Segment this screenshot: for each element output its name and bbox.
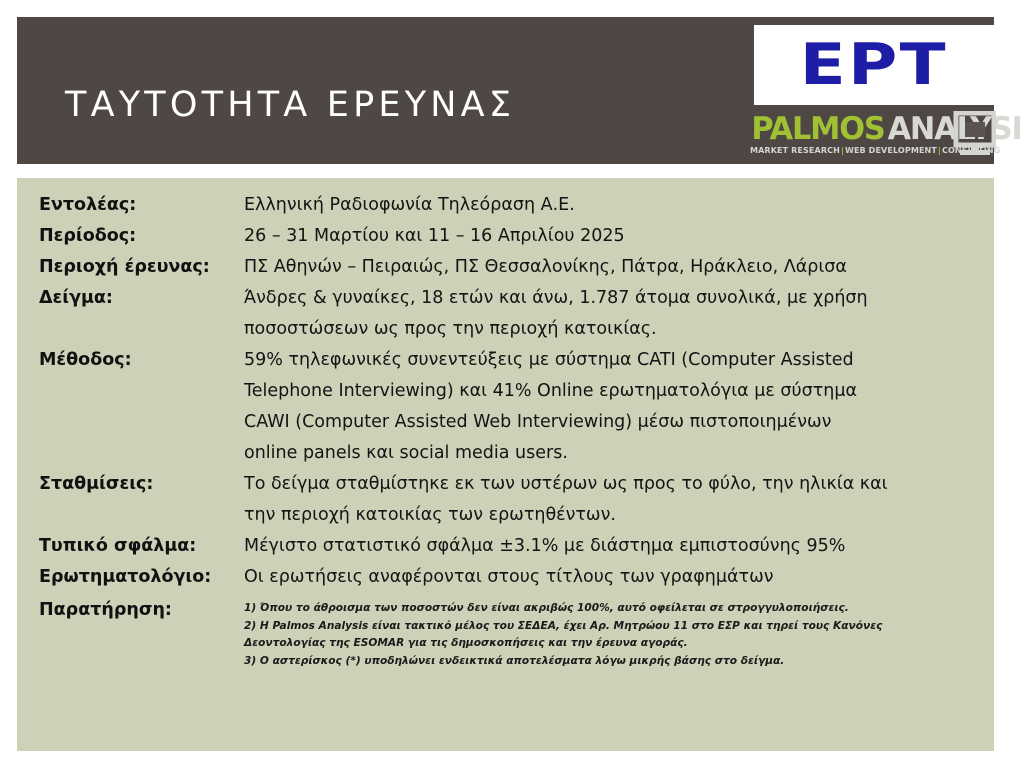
detail-row-label: Περιοχή έρευνας: [39,252,244,283]
ert-logo: ΕΡΤ [754,25,994,105]
detail-row: Ερωτηματολόγιο:Οι ερωτήσεις αναφέρονται … [39,562,974,593]
detail-row-value-line: ΠΣ Αθηνών – Πειραιώς, ΠΣ Θεσσαλονίκης, Π… [244,252,974,283]
detail-row-value: 26 – 31 Μαρτίου και 11 – 16 Απριλίου 202… [244,221,974,252]
detail-row-value-line: Μέγιστο στατιστικό σφάλμα ±3.1% με διάστ… [244,531,974,562]
palmos-logo-tagline: MARKET RESEARCH|WEB DEVELOPMENT|CONSULTI… [750,145,949,155]
detail-row-value-line: CAWI (Computer Assisted Web Interviewing… [244,407,974,438]
tagline-part-1: MARKET RESEARCH [750,145,840,155]
palmos-logo-word1: PALMOS [751,114,884,145]
observation-note-item: 1) Όπου το άθροισμα των ποσοστών δεν είν… [244,600,974,618]
detail-row-value-line: την περιοχή κατοικίας των ερωτηθέντων. [244,500,974,531]
detail-row-value: Το δείγμα σταθμίστηκε εκ των υστέρων ως … [244,469,974,531]
observation-note-item: 3) Ο αστερίσκος (*) υποδηλώνει ενδεικτικ… [244,653,974,671]
detail-row-value-line: Οι ερωτήσεις αναφέρονται στους τίτλους τ… [244,562,974,593]
observation-label: Παρατήρηση: [39,597,244,623]
detail-row-value: Άνδρες & γυναίκες, 18 ετών και άνω, 1.78… [244,283,974,345]
detail-row-value: 59% τηλεφωνικές συνεντεύξεις με σύστημα … [244,345,974,469]
detail-row-value-line: 59% τηλεφωνικές συνεντεύξεις με σύστημα … [244,345,974,376]
tagline-part-3: CONSULTING [942,145,1000,155]
observation-note-item: 2) Η Palmos Analysis είναι τακτικό μέλος… [244,618,944,653]
detail-row-value-line: ποσοστώσεων ως προς την περιοχή κατοικία… [244,314,974,345]
logo-group: ΕΡΤ PALMOSANALYSIS MARKET RESEARCH|WEB D… [754,25,994,165]
detail-row-value-line: online panels και social media users. [244,438,974,469]
detail-row: Τυπικό σφάλμα:Μέγιστο στατιστικό σφάλμα … [39,531,974,562]
detail-row: Μέθοδος:59% τηλεφωνικές συνεντεύξεις με … [39,345,974,469]
detail-row-value-line: Άνδρες & γυναίκες, 18 ετών και άνω, 1.78… [244,283,974,314]
detail-row-value-line: Το δείγμα σταθμίστηκε εκ των υστέρων ως … [244,469,974,500]
detail-row-value: Οι ερωτήσεις αναφέρονται στους τίτλους τ… [244,562,974,593]
detail-row-label: Δείγμα: [39,283,244,314]
detail-row: Σταθμίσεις:Το δείγμα σταθμίστηκε εκ των … [39,469,974,531]
detail-row-label: Ερωτηματολόγιο: [39,562,244,593]
detail-row: Περιοχή έρευνας:ΠΣ Αθηνών – Πειραιώς, ΠΣ… [39,252,974,283]
detail-row-value: ΠΣ Αθηνών – Πειραιώς, ΠΣ Θεσσαλονίκης, Π… [244,252,974,283]
detail-row-value: Μέγιστο στατιστικό σφάλμα ±3.1% με διάστ… [244,531,974,562]
detail-row-label: Μέθοδος: [39,345,244,376]
page-title: ΤΑΥΤΟΤΗΤΑ ΕΡΕΥΝΑΣ [65,85,515,125]
observation-notes: 1) Όπου το άθροισμα των ποσοστών δεν είν… [244,597,974,670]
detail-row-label: Περίοδος: [39,221,244,252]
slide-header-band: ΤΑΥΤΟΤΗΤΑ ΕΡΕΥΝΑΣ ΕΡΤ PALMOSANALYSIS MAR… [17,17,994,164]
survey-details-list: Εντολέας:Ελληνική Ραδιοφωνία Τηλεόραση Α… [39,190,974,670]
detail-row: Δείγμα:Άνδρες & γυναίκες, 18 ετών και άν… [39,283,974,345]
tagline-part-2: WEB DEVELOPMENT [845,145,937,155]
detail-row-value: Ελληνική Ραδιοφωνία Τηλεόραση Α.Ε. [244,190,974,221]
observation-row: Παρατήρηση:1) Όπου το άθροισμα των ποσοσ… [39,597,974,670]
ert-logo-text: ΕΡΤ [800,37,948,94]
detail-row-label: Σταθμίσεις: [39,469,244,500]
detail-row: Εντολέας:Ελληνική Ραδιοφωνία Τηλεόραση Α… [39,190,974,221]
survey-details-panel: Εντολέας:Ελληνική Ραδιοφωνία Τηλεόραση Α… [17,178,994,751]
detail-row-label: Τυπικό σφάλμα: [39,531,244,562]
detail-row-value-line: Ελληνική Ραδιοφωνία Τηλεόραση Α.Ε. [244,190,974,221]
detail-row: Περίοδος:26 – 31 Μαρτίου και 11 – 16 Απρ… [39,221,974,252]
detail-row-value-line: Telephone Interviewing) και 41% Online ε… [244,376,974,407]
detail-row-value-line: 26 – 31 Μαρτίου και 11 – 16 Απριλίου 202… [244,221,974,252]
detail-row-label: Εντολέας: [39,190,244,221]
